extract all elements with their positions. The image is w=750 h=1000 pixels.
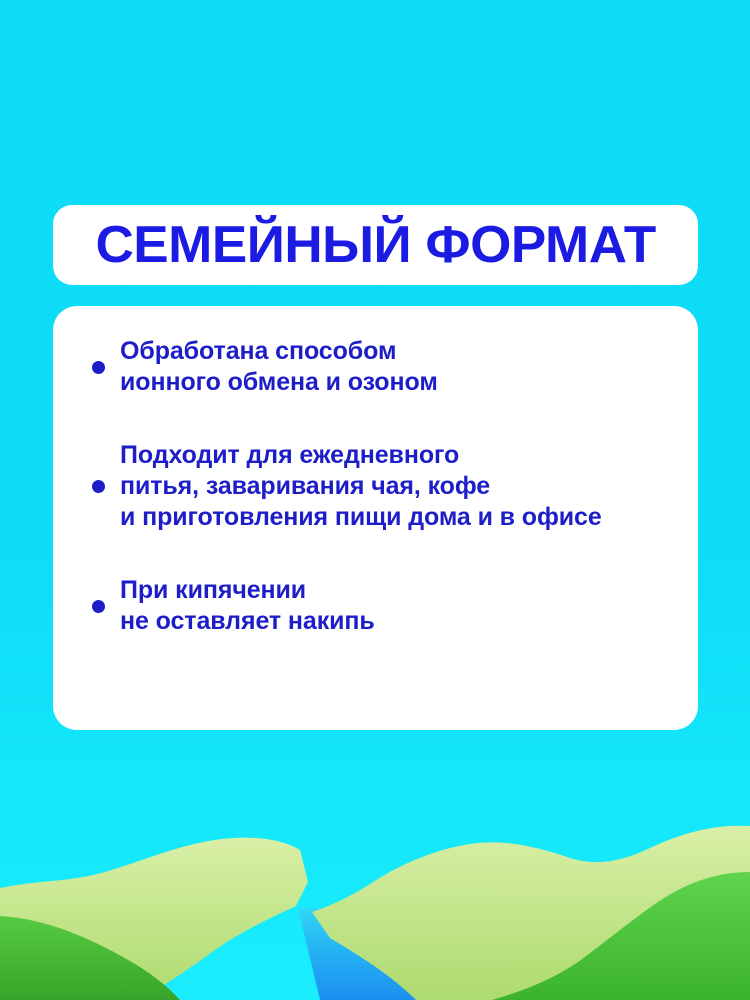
title-card: СЕМЕЙНЫЙ ФОРМАТ [53, 205, 698, 285]
list-item: Обработана способом ионного обмена и озо… [53, 336, 698, 398]
feature-line: Подходит для ежедневного [120, 440, 602, 471]
feature-line: питья, заваривания чая, кофе [120, 471, 602, 502]
feature-text: При кипячении не оставляет накипь [120, 575, 375, 637]
page-title: СЕМЕЙНЫЙ ФОРМАТ [95, 219, 655, 271]
landscape-illustration [0, 810, 750, 1000]
feature-line: Обработана способом [120, 336, 438, 367]
feature-list: Обработана способом ионного обмена и озо… [53, 336, 698, 637]
feature-line: не оставляет накипь [120, 606, 375, 637]
feature-line: ионного обмена и озоном [120, 367, 438, 398]
feature-line: При кипячении [120, 575, 375, 606]
bullet-dot-icon [92, 361, 105, 374]
features-card: Обработана способом ионного обмена и озо… [53, 306, 698, 730]
feature-text: Подходит для ежедневного питья, заварива… [120, 440, 602, 533]
list-item: Подходит для ежедневного питья, заварива… [53, 440, 698, 533]
list-item: При кипячении не оставляет накипь [53, 575, 698, 637]
promo-poster: СЕМЕЙНЫЙ ФОРМАТ Обработана способом ионн… [0, 0, 750, 1000]
feature-line: и приготовления пищи дома и в офисе [120, 502, 602, 533]
feature-text: Обработана способом ионного обмена и озо… [120, 336, 438, 398]
bullet-dot-icon [92, 480, 105, 493]
bullet-dot-icon [92, 600, 105, 613]
